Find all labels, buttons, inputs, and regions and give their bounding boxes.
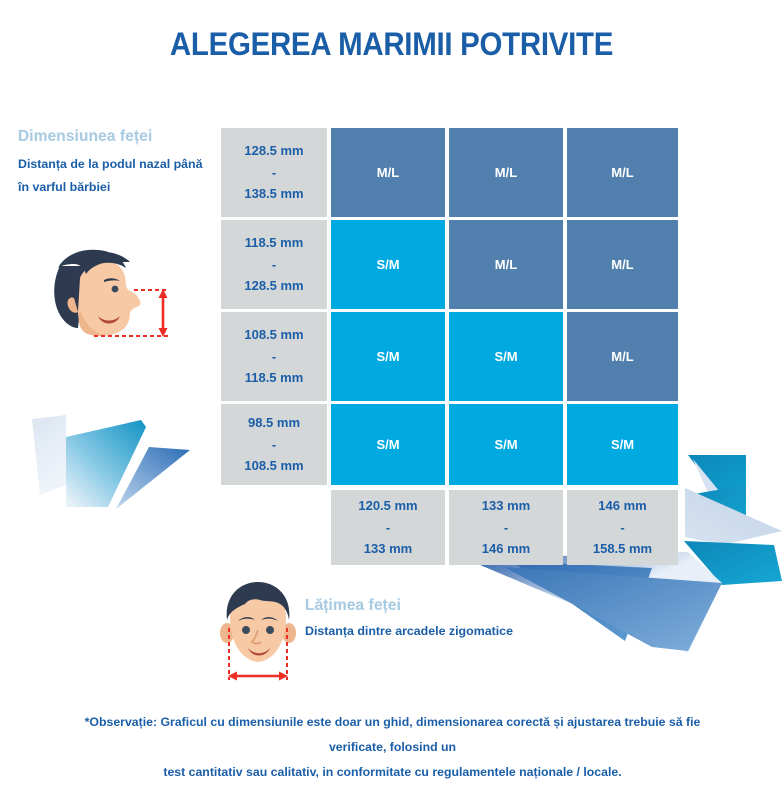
col-header-1: 133 mm - 146 mm: [449, 490, 563, 565]
row-header-1-dash: -: [244, 254, 303, 275]
size-cell-r0-c0: M/L: [331, 128, 445, 217]
page-title: ALEGEREA MARIMII POTRIVITE: [31, 26, 751, 63]
size-cell-r2-c2: M/L: [567, 312, 678, 401]
row-header-1: 118.5 mm - 128.5 mm: [221, 220, 327, 309]
caption-face-width-subtitle-line1: Distanța dintre arcadele zigomatice: [305, 622, 565, 642]
size-cell-r1-c0: S/M: [331, 220, 445, 309]
row-header-3-dash: -: [244, 434, 303, 455]
row-header-3-from: 98.5 mm: [244, 412, 303, 433]
size-cell-r3-c0: S/M: [331, 404, 445, 485]
row-header-1-to: 128.5 mm: [244, 275, 303, 296]
footnote: *Observație: Graficul cu dimensiunile es…: [60, 710, 725, 786]
row-header-0: 128.5 mm - 138.5 mm: [221, 128, 327, 217]
col-header-1-to: 146 mm: [482, 538, 530, 559]
row-header-2-from: 108.5 mm: [244, 324, 303, 345]
footnote-line2: test cantitativ sau calitativ, in confor…: [60, 760, 725, 785]
row-header-2-to: 118.5 mm: [244, 367, 303, 388]
col-header-0-from: 120.5 mm: [358, 495, 417, 516]
size-chart-table: 128.5 mm - 138.5 mm 118.5 mm - 128.5 mm …: [221, 128, 678, 565]
col-header-1-dash: -: [482, 517, 530, 538]
col-header-2: 146 mm - 158.5 mm: [567, 490, 678, 565]
col-header-0: 120.5 mm - 133 mm: [331, 490, 445, 565]
col-header-0-to: 133 mm: [358, 538, 417, 559]
size-cell-r1-c2: M/L: [567, 220, 678, 309]
caption-face-width: Lățimea feței Distanța dintre arcadele z…: [305, 597, 565, 642]
face-front-illustration: [200, 578, 320, 698]
size-cell-r0-c2: M/L: [567, 128, 678, 217]
size-cell-r2-c0: S/M: [331, 312, 445, 401]
face-side-profile-illustration: [38, 248, 203, 363]
col-header-2-from: 146 mm: [593, 495, 652, 516]
row-header-0-from: 128.5 mm: [244, 140, 303, 161]
caption-face-height: Dimensiunea feței Distanța de la podul n…: [18, 128, 218, 199]
size-cell-r1-c1: M/L: [449, 220, 563, 309]
caption-face-width-title: Lățimea feței: [305, 597, 565, 615]
caption-face-height-subtitle-line1: Distanța de la podul nazal până: [18, 153, 218, 176]
caption-face-width-subtitle: Distanța dintre arcadele zigomatice: [305, 622, 565, 642]
decorative-polygons-left: [10, 395, 220, 515]
caption-face-height-subtitle-line2: în varful bărbiei: [18, 176, 218, 199]
col-header-1-from: 133 mm: [482, 495, 530, 516]
row-header-3: 98.5 mm - 108.5 mm: [221, 404, 327, 485]
col-header-0-dash: -: [358, 517, 417, 538]
caption-face-height-title: Dimensiunea feței: [18, 128, 218, 146]
row-header-0-to: 138.5 mm: [244, 183, 303, 204]
caption-face-height-subtitle: Distanța de la podul nazal până în varfu…: [18, 153, 218, 199]
size-cell-r3-c1: S/M: [449, 404, 563, 485]
row-header-3-to: 108.5 mm: [244, 455, 303, 476]
footnote-line1: *Observație: Graficul cu dimensiunile es…: [60, 710, 725, 760]
col-header-2-to: 158.5 mm: [593, 538, 652, 559]
row-header-2: 108.5 mm - 118.5 mm: [221, 312, 327, 401]
row-header-1-from: 118.5 mm: [244, 232, 303, 253]
col-header-2-dash: -: [593, 517, 652, 538]
size-cell-r2-c1: S/M: [449, 312, 563, 401]
row-header-0-dash: -: [244, 162, 303, 183]
size-cell-r3-c2: S/M: [567, 404, 678, 485]
size-cell-r0-c1: M/L: [449, 128, 563, 217]
row-header-2-dash: -: [244, 346, 303, 367]
